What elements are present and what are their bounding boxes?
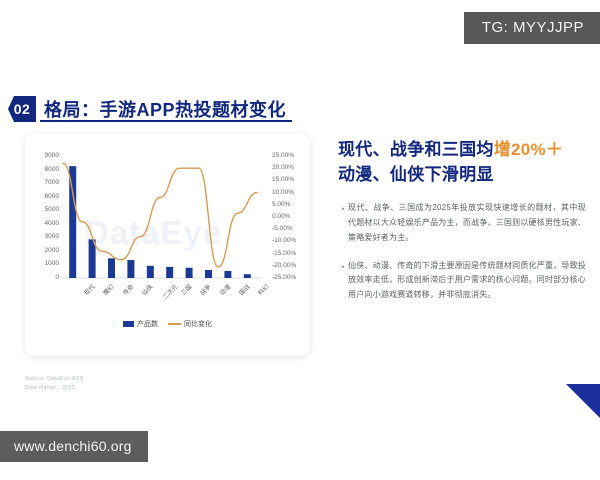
chart-legend: 产品数 同比变化 [25, 319, 310, 329]
legend-swatch-bar-icon [123, 321, 134, 327]
insight-bullet-text: 仙侠、动漫、传奇的下滑主要原因是传统题材同质化严重，导致投放效率走低，形成创新滞… [348, 259, 586, 303]
insight-bullet-text: 现代、战争、三国成为2025年投放实现快速增长的题材，其中现代题材以大众轻娱乐产… [348, 201, 586, 245]
page-title: 格局：手游APP热投题材变化 [44, 96, 286, 122]
chart-bar [186, 268, 193, 278]
chart-bar [244, 274, 251, 278]
chart-bar [224, 271, 231, 278]
insight-bullet: •现代、战争、三国成为2025年投放实现快速增长的题材，其中现代题材以大众轻娱乐… [338, 201, 586, 245]
site-watermark: www.denchi60.org [0, 431, 148, 462]
slide-canvas: TG: MYYJJPP 02 格局：手游APP热投题材变化 DataEye 90… [0, 0, 600, 480]
corner-triangle-decoration [566, 384, 600, 418]
insight-bullet-list: •现代、战争、三国成为2025年投放实现快速增长的题材，其中现代题材以大众轻娱乐… [338, 201, 586, 303]
tg-badge: TG: MYYJJPP [464, 12, 600, 44]
legend-label-line: 同比变化 [184, 319, 212, 329]
legend-item-line: 同比变化 [168, 319, 212, 329]
insight-headline-part2: 动漫、仙侠下滑明显 [338, 165, 494, 184]
chart-bar [127, 260, 134, 278]
x-axis-tick-label: 传奇 [120, 282, 135, 297]
heading-underline [40, 120, 292, 122]
legend-label-bars: 产品数 [137, 319, 158, 329]
bullet-marker-icon: • [338, 201, 348, 245]
insight-panel: 现代、战争和三国均增20%＋ 动漫、仙侠下滑明显 •现代、战争、三国成为2025… [338, 138, 586, 316]
chart-bar [147, 266, 154, 278]
insight-bullet: •仙侠、动漫、传奇的下滑主要原因是传统题材同质化严重，导致投放效率走低，形成创新… [338, 259, 586, 303]
chart-bar [205, 270, 212, 278]
x-axis-tick-label: 国战 [236, 282, 251, 297]
section-number-badge: 02 [8, 96, 36, 122]
insight-headline-accent: 增20%＋ [494, 140, 564, 159]
source-note: Source: DataEye-ADX Date Range：2025 [25, 375, 84, 393]
chart-bar [108, 258, 115, 278]
chart-x-axis: 现代魔幻传奇仙侠二次元三国战争动漫国战科幻 [63, 280, 257, 314]
x-axis-tick-label: 战争 [198, 282, 213, 297]
x-axis-tick-label: 仙侠 [139, 282, 154, 297]
x-axis-tick-label: 三国 [178, 282, 193, 297]
x-axis-tick-label: 动漫 [217, 282, 232, 297]
bullet-marker-icon: • [338, 259, 348, 303]
x-axis-tick-label: 二次元 [161, 282, 180, 301]
insight-headline: 现代、战争和三国均增20%＋ 动漫、仙侠下滑明显 [338, 138, 586, 187]
x-axis-tick-label: 现代 [81, 282, 96, 297]
insight-headline-part1: 现代、战争和三国均 [338, 140, 494, 159]
source-line-1: Source: DataEye-ADX [25, 375, 84, 384]
legend-swatch-line-icon [168, 323, 181, 325]
chart-card: DataEye 90008000700060005000400030002000… [25, 134, 310, 356]
source-line-2: Date Range：2025 [25, 384, 84, 393]
chart-bar [69, 166, 76, 278]
chart-bar [89, 239, 96, 278]
chart-area: DataEye 90008000700060005000400030002000… [25, 134, 310, 356]
section-heading: 02 格局：手游APP热投题材变化 [8, 96, 286, 122]
chart-bar [166, 267, 173, 278]
legend-item-bars: 产品数 [123, 319, 158, 329]
x-axis-tick-label: 魔幻 [101, 282, 116, 297]
